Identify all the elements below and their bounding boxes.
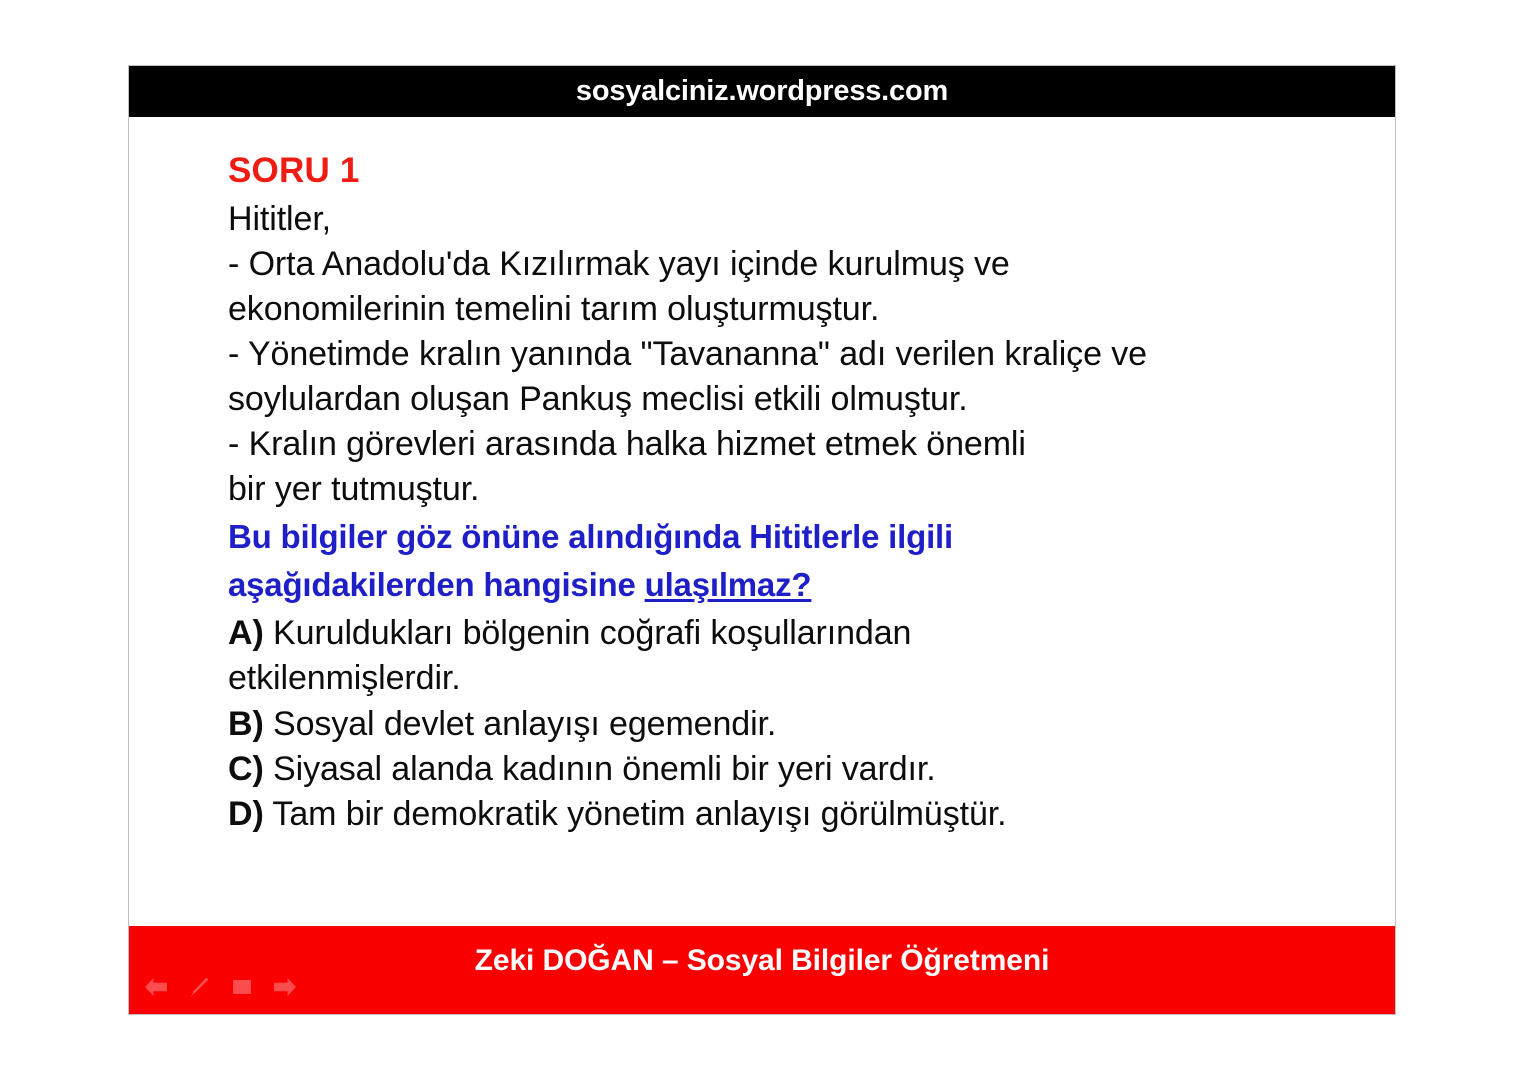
question-title: SORU 1 (228, 150, 1355, 191)
site-header-bar: sosyalciniz.wordpress.com (129, 66, 1395, 117)
pen-tool-button[interactable] (186, 974, 212, 1000)
question-stem: Hititler, - Orta Anadolu'da Kızılırmak y… (228, 197, 1355, 511)
arrow-right-icon (272, 976, 298, 998)
answer-options: A) Kuruldukları bölgenin coğrafi koşulla… (228, 611, 1355, 837)
stem-line: - Kralın görevleri arasında halka hizmet… (228, 422, 1355, 467)
stem-line: bir yer tutmuştur. (228, 467, 1355, 512)
pen-icon (187, 975, 211, 999)
question-prompt: Bu bilgiler göz önüne alındığında Hititl… (228, 513, 1355, 609)
option-text-d: Tam bir demokratik yönetim anlayışı görü… (264, 795, 1007, 833)
option-letter-c: C) (228, 750, 264, 788)
presentation-stage: sosyalciniz.wordpress.com SORU 1 Hititle… (0, 0, 1527, 1080)
slide-content: SORU 1 Hititler, - Orta Anadolu'da Kızıl… (129, 117, 1395, 926)
footer-credit-bar: Zeki DOĞAN – Sosyal Bilgiler Öğretmeni (129, 926, 1395, 1014)
slide-frame: sosyalciniz.wordpress.com SORU 1 Hititle… (128, 65, 1396, 1015)
option-letter-d: D) (228, 795, 264, 833)
next-slide-button[interactable] (272, 974, 298, 1000)
stem-line: - Yönetimde kralın yanında "Tavananna" a… (228, 332, 1355, 377)
option-text-b: Sosyal devlet anlayışı egemendir. (264, 705, 777, 743)
question-prompt-line-2-text: aşağıdakilerden hangisine (228, 566, 645, 603)
answer-option-a[interactable]: A) Kuruldukları bölgenin coğrafi koşulla… (228, 611, 1355, 701)
option-letter-a: A) (228, 614, 264, 652)
arrow-left-icon (143, 976, 169, 998)
question-prompt-line-2: aşağıdakilerden hangisine ulaşılmaz? (228, 561, 1355, 609)
answer-option-c[interactable]: C) Siyasal alanda kadının önemli bir yer… (228, 747, 1355, 792)
stem-line: ekonomilerinin temelini tarım oluşturmuş… (228, 287, 1355, 332)
stem-line: soylulardan oluşan Pankuş meclisi etkili… (228, 377, 1355, 422)
answer-option-b[interactable]: B) Sosyal devlet anlayışı egemendir. (228, 702, 1355, 747)
option-text-c: Siyasal alanda kadının önemli bir yeri v… (264, 750, 936, 788)
slide-menu-button[interactable] (229, 974, 255, 1000)
presentation-nav-controls (143, 974, 298, 1000)
footer-credit-text: Zeki DOĞAN – Sosyal Bilgiler Öğretmeni (475, 944, 1050, 978)
slide-menu-icon (230, 977, 254, 997)
stem-line: Hititler, (228, 197, 1355, 242)
previous-slide-button[interactable] (143, 974, 169, 1000)
question-prompt-line-1: Bu bilgiler göz önüne alındığında Hititl… (228, 513, 1355, 561)
option-text-a: Kuruldukları bölgenin coğrafi koşulların… (228, 614, 911, 697)
site-url-text: sosyalciniz.wordpress.com (576, 77, 948, 106)
option-letter-b: B) (228, 705, 264, 743)
answer-option-d[interactable]: D) Tam bir demokratik yönetim anlayışı g… (228, 792, 1355, 837)
question-prompt-emphasis: ulaşılmaz? (645, 566, 812, 603)
stem-line: - Orta Anadolu'da Kızılırmak yayı içinde… (228, 242, 1355, 287)
